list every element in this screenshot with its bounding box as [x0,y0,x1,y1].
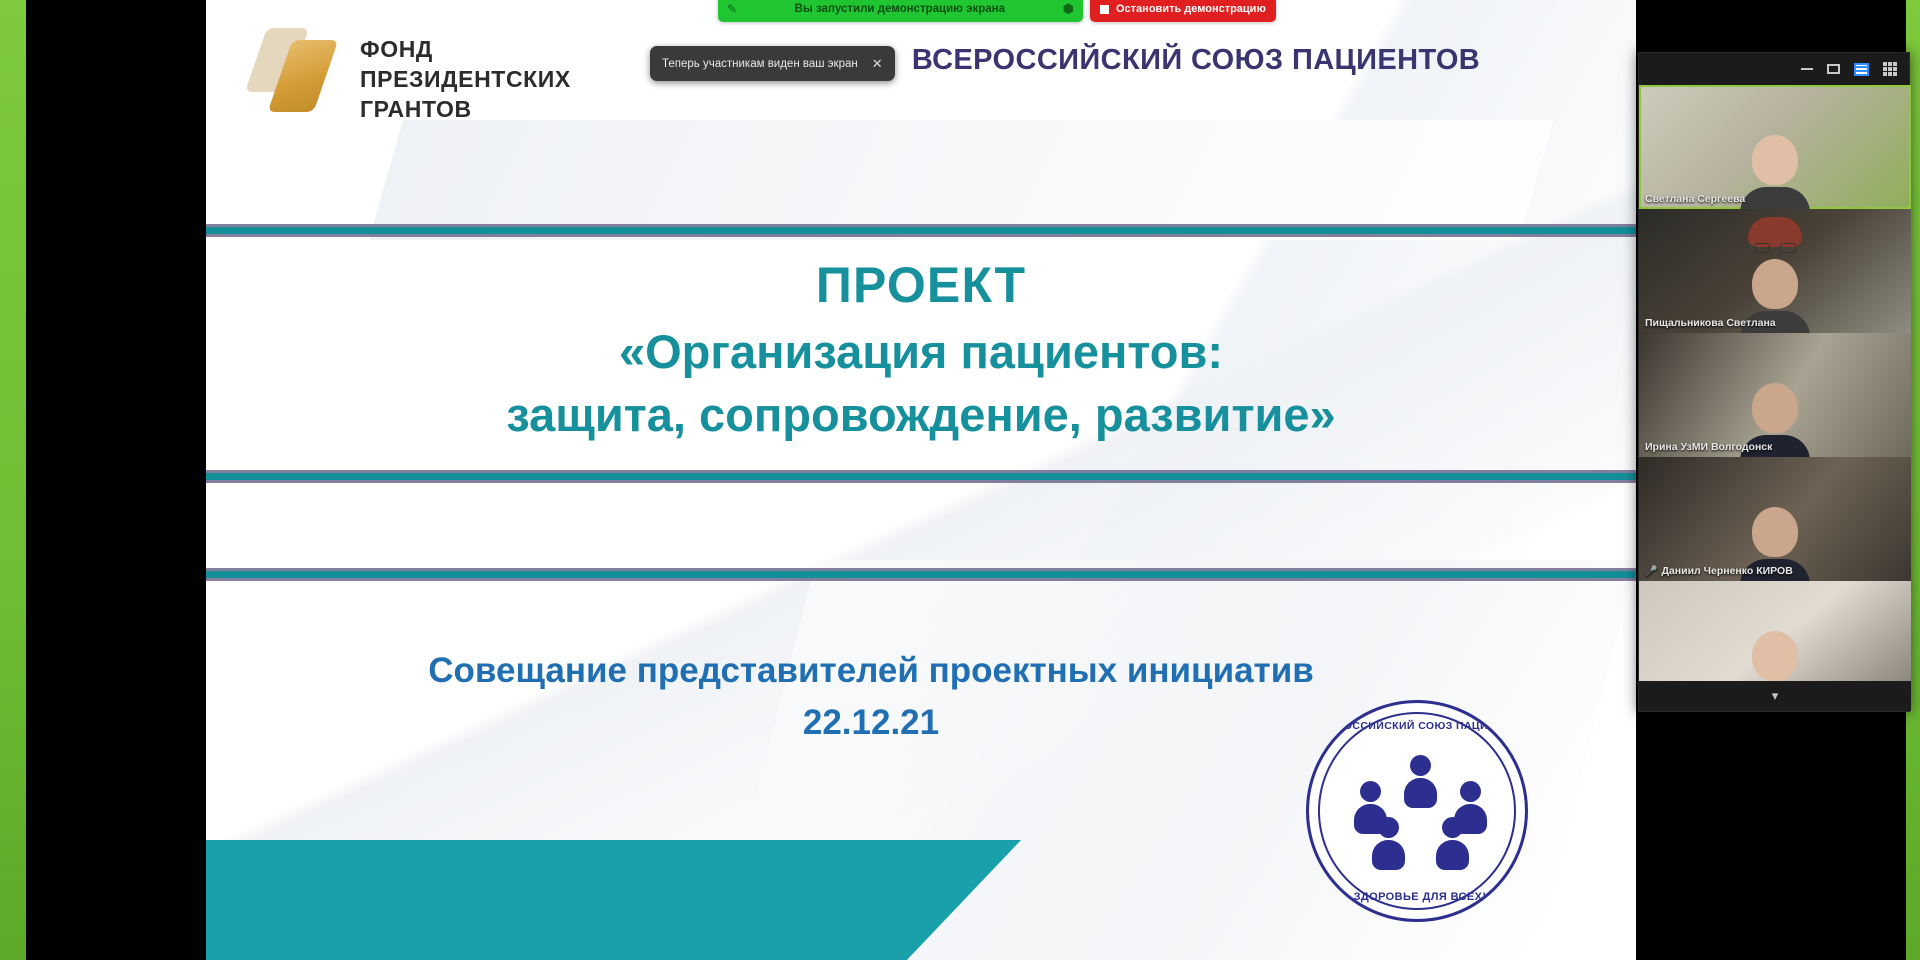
fund-logo-text: ФОНД ПРЕЗИДЕНТСКИХ ГРАНТОВ [360,34,571,124]
stop-share-label: Остановить демонстрацию [1116,3,1266,15]
participant-name: Ирина УзМИ Волгодонск [1645,441,1772,453]
participant-tile[interactable]: Светлана Сергеева [1639,85,1911,209]
participant-tiles: Светлана Сергеева Пищальникова Светлана … [1639,85,1911,705]
panel-titlebar [1639,53,1909,85]
meeting-subtitle: Совещание представителей проектных иници… [246,645,1496,749]
divider-bottom [206,470,1636,483]
green-dot-icon[interactable]: ⬢ [1063,1,1074,17]
project-kicker: ПРОЕКТ [246,256,1596,314]
fund-logo-line3: ГРАНТОВ [360,94,571,124]
gallery-view-icon[interactable] [1883,62,1897,76]
project-title-line-1: «Организация пациентов: [246,320,1596,383]
stop-share-button[interactable]: Остановить демонстрацию [1090,0,1276,22]
share-banner-text: Вы запустили демонстрацию экрана [743,3,1057,15]
participant-video-panel: Светлана Сергеева Пищальникова Светлана … [1638,52,1910,712]
chevron-down-icon[interactable]: ▾ [1772,688,1779,704]
screen-share-status-banner: ✎ Вы запустили демонстрацию экрана ⬢ [718,0,1083,22]
participant-tile[interactable]: Ирина УзМИ Волгодонск [1639,333,1911,457]
letterbox-left [26,0,206,960]
emblem-figures-icon [1309,755,1528,875]
participant-name: Светлана Сергеева [1645,193,1745,205]
participant-tile[interactable]: 🎤 Даниил Черненко КИРОВ [1639,457,1911,581]
stop-square-icon [1100,5,1109,14]
close-icon[interactable]: ✕ [872,56,883,72]
glasses-icon [1754,243,1796,253]
organization-title: ВСЕРОССИЙСКИЙ СОЮЗ ПАЦИЕНТОВ [766,44,1626,77]
participant-name: 🎤 Даниил Черненко КИРОВ [1645,565,1793,577]
desktop-background-left [0,0,26,960]
project-title-block: ПРОЕКТ «Организация пациентов: защита, с… [246,256,1596,446]
pencil-icon: ✎ [727,2,737,16]
parallelogram-logo-icon [254,24,346,116]
fund-logo-line1: ФОНД [360,34,571,64]
screen-root: ФОНД ПРЕЗИДЕНТСКИХ ГРАНТОВ ВСЕРОССИЙСКИЙ… [0,0,1920,960]
divider-middle [206,568,1636,581]
minimize-icon[interactable] [1801,68,1813,70]
meeting-text: Совещание представителей проектных иници… [428,651,1313,690]
presidential-grants-fund-logo: ФОНД ПРЕЗИДЕНТСКИХ ГРАНТОВ [254,20,584,140]
participant-tile[interactable]: Пищальникова Светлана [1639,209,1911,333]
shared-screen-slide: ФОНД ПРЕЗИДЕНТСКИХ ГРАНТОВ ВСЕРОССИЙСКИЙ… [206,0,1636,960]
fund-logo-line2: ПРЕЗИДЕНТСКИХ [360,64,571,94]
slide-footer-bar [206,840,1021,960]
screen-share-tooltip: Теперь участникам виден ваш экран ✕ [650,46,895,81]
tooltip-text: Теперь участникам виден ваш экран [662,58,858,70]
vsp-emblem: ВСЕРОССИЙСКИЙ СОЮЗ ПАЦИЕНТОВ ЗДОРОВЬЕ ДЛ… [1306,700,1528,922]
project-title-line-2: защита, сопровождение, развитие» [246,383,1596,446]
panel-scroll-footer: ▾ [1639,681,1911,711]
divider-top [206,224,1636,237]
maximize-icon[interactable] [1827,64,1840,74]
mic-muted-icon: 🎤 [1645,566,1657,577]
emblem-bottom-text: ЗДОРОВЬЕ ДЛЯ ВСЕХ! [1309,891,1528,903]
participant-name: Пищальникова Светлана [1645,317,1776,329]
emblem-top-text: ВСЕРОССИЙСКИЙ СОЮЗ ПАЦИЕНТОВ [1309,720,1528,732]
speaker-view-icon[interactable] [1854,63,1869,76]
